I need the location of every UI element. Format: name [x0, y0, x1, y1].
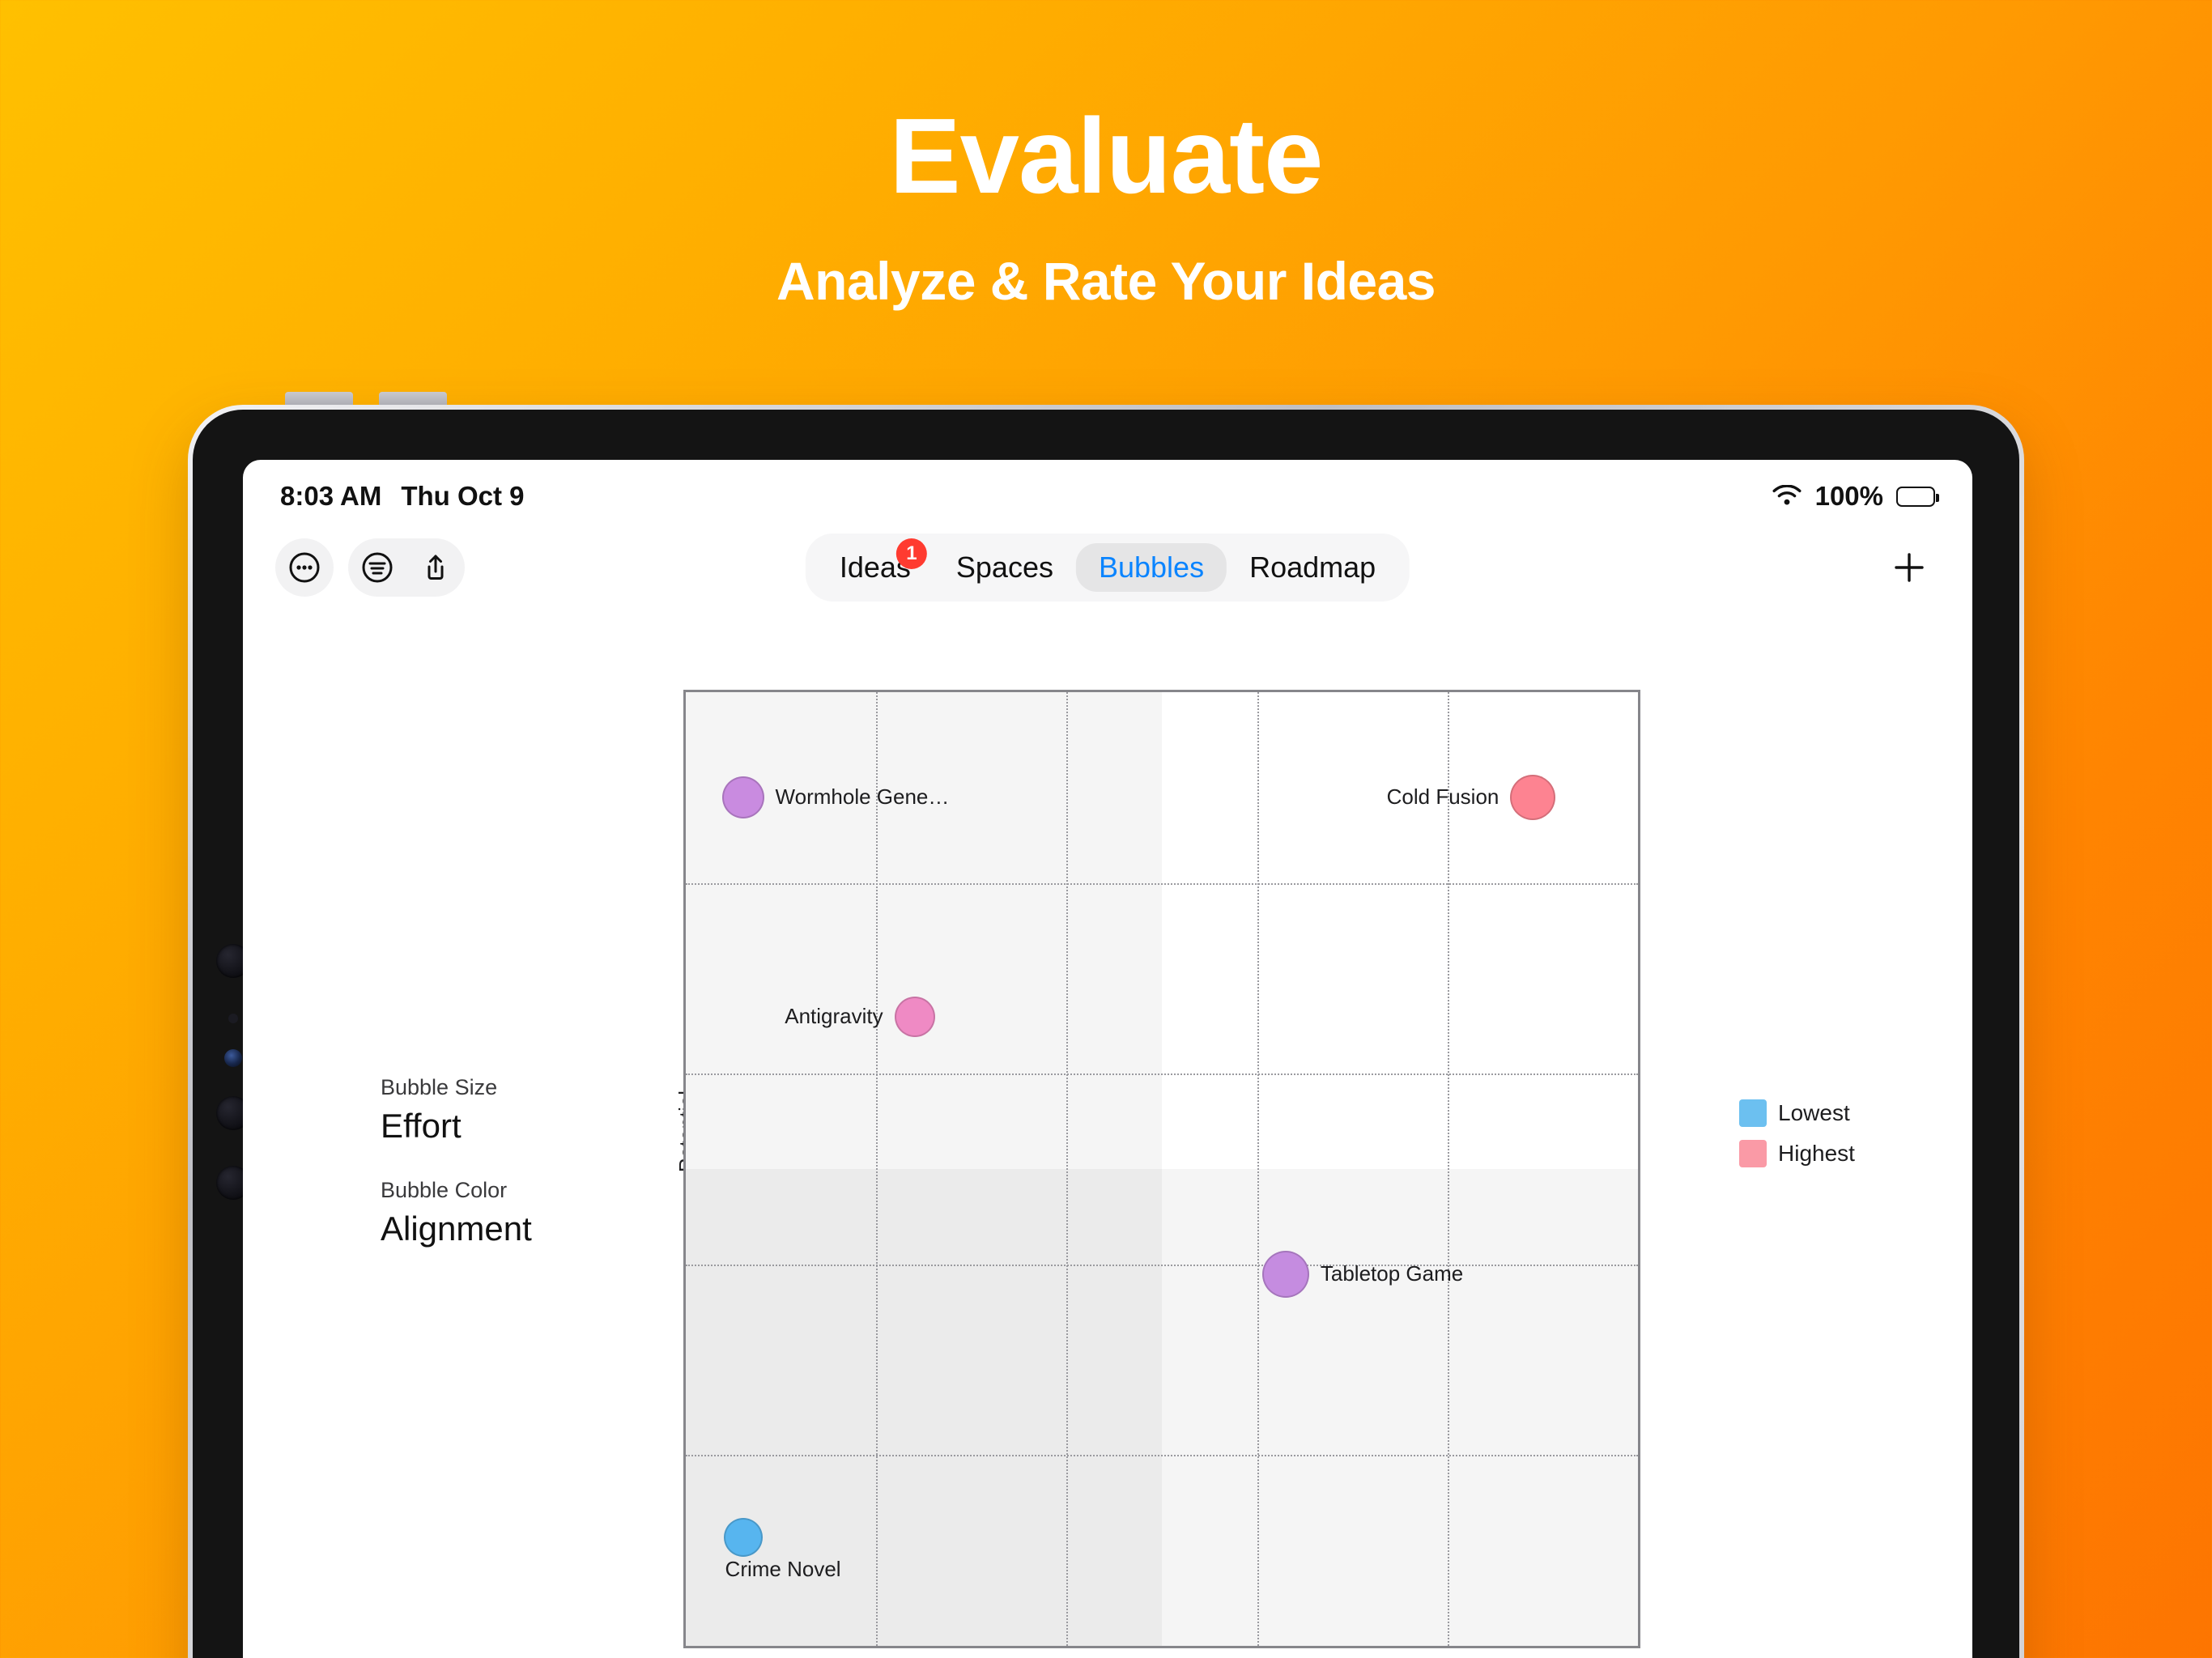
bubble-marker[interactable]: [895, 997, 935, 1037]
ambient-sensor-icon: [224, 1049, 242, 1067]
gridline-horizontal: [686, 1073, 1638, 1075]
bubble-plot[interactable]: Wormhole Gene…Cold FusionAntigravityTabl…: [683, 690, 1640, 1648]
add-idea-button[interactable]: [1878, 537, 1940, 598]
more-ellipsis-circle-icon[interactable]: [275, 538, 334, 597]
status-bar-right: 100%: [1772, 481, 1935, 512]
toolbar-right-group: [1878, 537, 1940, 598]
bubble-marker[interactable]: [1262, 1251, 1309, 1298]
gridline-vertical: [876, 692, 878, 1646]
gridline-horizontal: [686, 883, 1638, 885]
status-time: 8:03 AM: [280, 481, 381, 512]
legend-item: Lowest: [1739, 1099, 1855, 1127]
tab-roadmap[interactable]: Roadmap: [1227, 543, 1398, 592]
toolbar-icon-pair: [348, 538, 465, 597]
legend-label: Lowest: [1778, 1100, 1850, 1126]
bubble-point[interactable]: Tabletop Game: [1262, 1251, 1463, 1298]
page-title: Evaluate: [0, 97, 2212, 215]
tab-bubbles-label: Bubbles: [1099, 553, 1204, 582]
share-upload-icon[interactable]: [406, 538, 465, 597]
tablet-device-frame: 8:03 AM Thu Oct 9 100%: [188, 405, 2024, 1658]
gridline-horizontal: [686, 1265, 1638, 1266]
tab-spaces[interactable]: Spaces: [934, 543, 1076, 592]
app-toolbar: Ideas 1 Spaces Bubbles Roadmap: [243, 523, 1972, 612]
view-segmented-control[interactable]: Ideas 1 Spaces Bubbles Roadmap: [806, 534, 1410, 602]
tab-ideas-badge: 1: [896, 538, 927, 569]
bubble-label: Crime Novel: [725, 1557, 841, 1582]
bubble-point[interactable]: Wormhole Gene…: [722, 776, 950, 818]
color-legend: LowestHighest: [1739, 1099, 1855, 1180]
tab-spaces-label: Spaces: [956, 553, 1053, 582]
encoding-color: Bubble Color Alignment: [381, 1178, 632, 1248]
encoding-color-value[interactable]: Alignment: [381, 1209, 632, 1248]
gridline-horizontal: [686, 1455, 1638, 1456]
legend-label: Highest: [1778, 1141, 1855, 1167]
status-bar: 8:03 AM Thu Oct 9 100%: [243, 460, 1972, 521]
quadrant-shading-left: [686, 692, 1162, 1646]
promo-header: Evaluate Analyze & Rate Your Ideas: [0, 97, 2212, 312]
bubble-point[interactable]: Cold Fusion: [1387, 775, 1556, 820]
device-screen: 8:03 AM Thu Oct 9 100%: [243, 460, 1972, 1658]
gridline-vertical: [1066, 692, 1068, 1646]
bubble-label: Antigravity: [785, 1004, 883, 1029]
legend-swatch: [1739, 1099, 1767, 1127]
bubble-marker[interactable]: [722, 776, 764, 818]
tab-bubbles[interactable]: Bubbles: [1076, 543, 1227, 592]
battery-percent-label: 100%: [1815, 481, 1883, 512]
tab-roadmap-label: Roadmap: [1249, 553, 1376, 582]
bubble-marker[interactable]: [1510, 775, 1555, 820]
status-date: Thu Oct 9: [401, 481, 524, 512]
encoding-color-caption: Bubble Color: [381, 1178, 632, 1203]
legend-swatch: [1739, 1140, 1767, 1167]
device-bezel: 8:03 AM Thu Oct 9 100%: [193, 410, 2019, 1658]
volume-down-button[interactable]: [379, 392, 447, 405]
wifi-icon: [1772, 485, 1802, 508]
volume-up-button[interactable]: [285, 392, 353, 405]
microphone-dot-icon: [228, 1014, 238, 1023]
bubble-point[interactable]: Crime Novel: [724, 1518, 841, 1588]
gridline-vertical: [1257, 692, 1259, 1646]
encoding-size: Bubble Size Effort: [381, 1075, 632, 1146]
bubble-point[interactable]: Antigravity: [785, 997, 934, 1037]
status-bar-left: 8:03 AM Thu Oct 9: [280, 481, 525, 512]
encoding-legend: Bubble Size Effort Bubble Color Alignmen…: [381, 1075, 632, 1281]
legend-item: Highest: [1739, 1140, 1855, 1167]
gridline-vertical: [1448, 692, 1449, 1646]
tab-ideas[interactable]: Ideas 1: [817, 543, 934, 592]
toolbar-left-group: [275, 538, 465, 597]
battery-full-icon: [1896, 487, 1935, 507]
bubble-label: Wormhole Gene…: [776, 784, 950, 810]
page-subtitle: Analyze & Rate Your Ideas: [0, 250, 2212, 312]
encoding-size-value[interactable]: Effort: [381, 1107, 632, 1146]
bubble-chart-area: Bubble Size Effort Bubble Color Alignmen…: [243, 614, 1972, 1658]
bubble-label: Tabletop Game: [1321, 1261, 1463, 1286]
filter-lines-circle-icon[interactable]: [348, 538, 406, 597]
encoding-size-caption: Bubble Size: [381, 1075, 632, 1100]
bubble-marker[interactable]: [724, 1518, 763, 1557]
bubble-label: Cold Fusion: [1387, 784, 1499, 810]
